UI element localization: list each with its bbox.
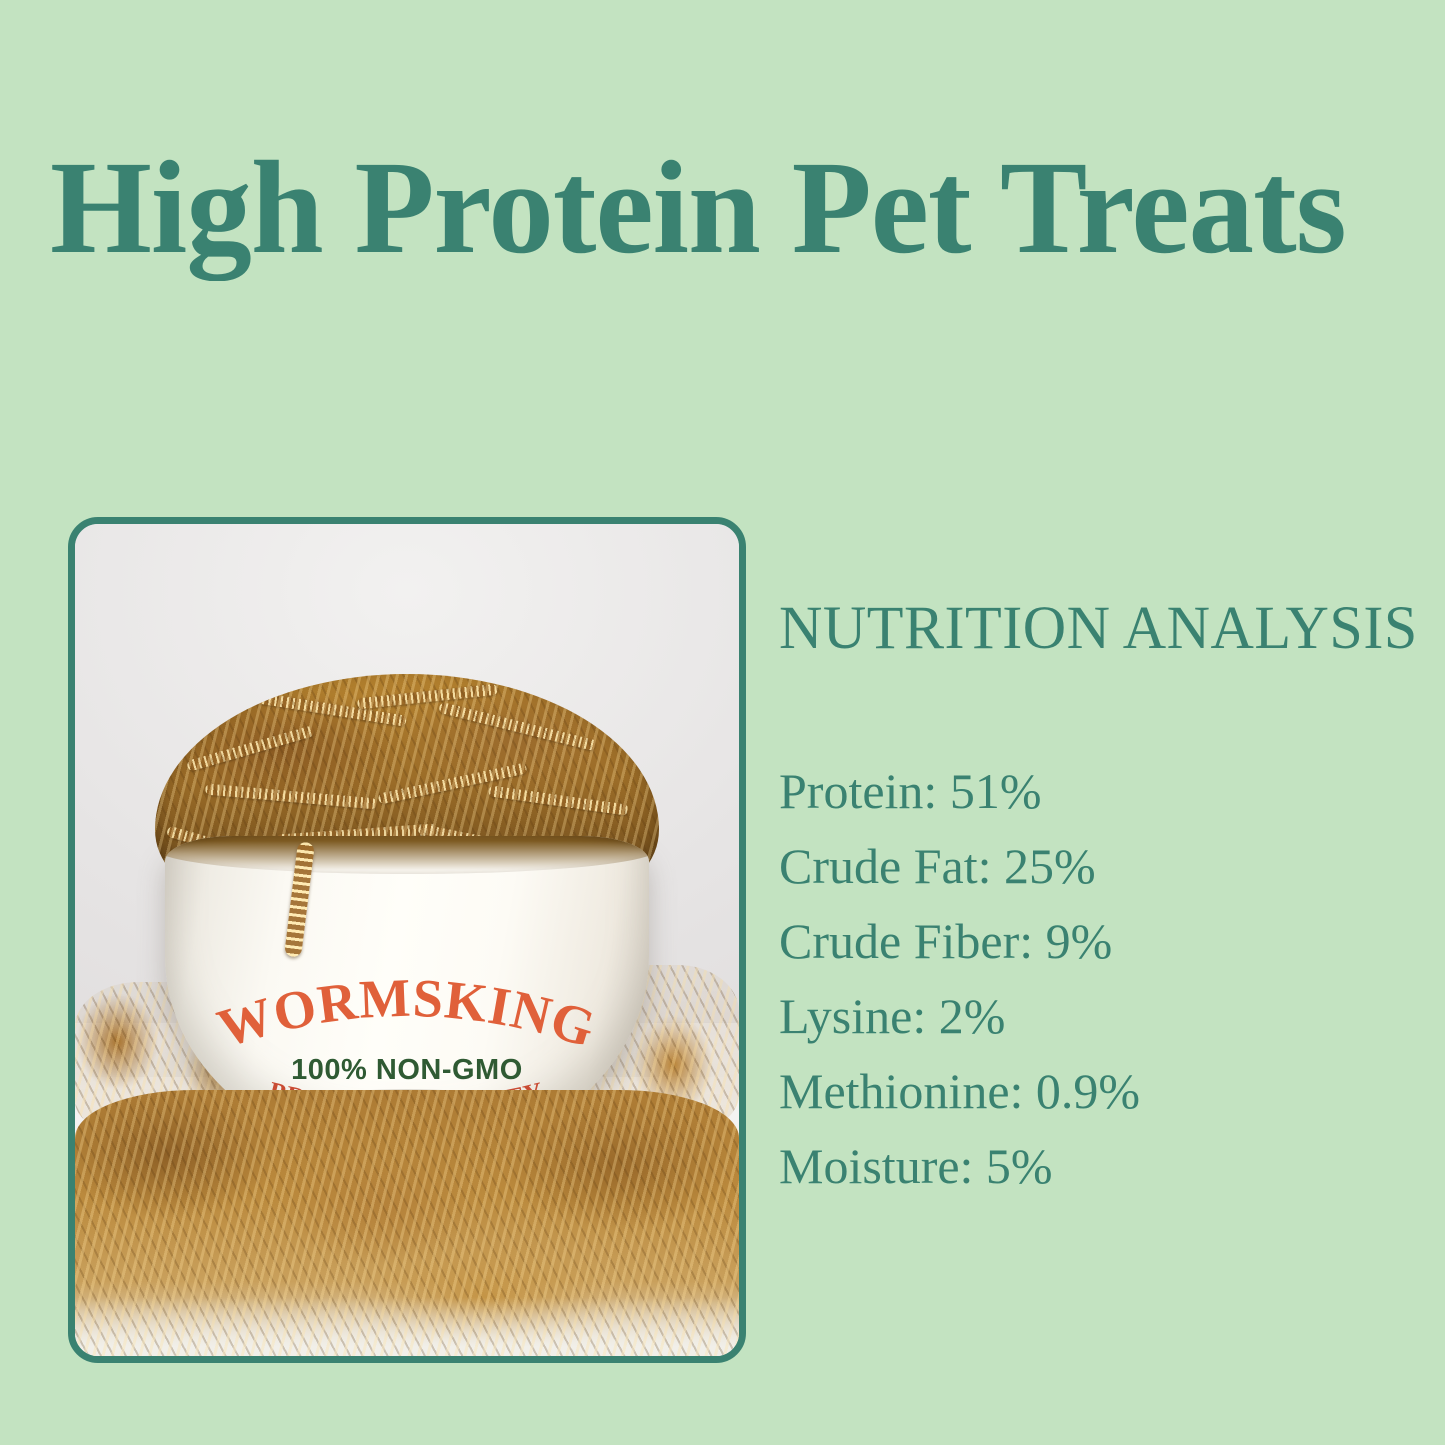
- nutrition-list: Protein: 51% Crude Fat: 25% Crude Fiber:…: [779, 754, 1419, 1204]
- nutrition-item-crude-fat: Crude Fat: 25%: [779, 829, 1419, 904]
- non-gmo-claim: 100% NON-GMO: [203, 1054, 610, 1087]
- bowl-rim: [165, 836, 650, 874]
- nutrition-item-moisture: Moisture: 5%: [779, 1129, 1419, 1204]
- svg-text:WORMSKING: WORMSKING: [211, 968, 603, 1060]
- brand-arc-graphic: WORMSKING: [203, 978, 610, 1062]
- product-marketing-poster: High Protein Pet Treats: [0, 0, 1445, 1445]
- page-title: High Protein Pet Treats: [50, 142, 1380, 272]
- nutrition-item-crude-fiber: Crude Fiber: 9%: [779, 904, 1419, 979]
- nutrition-item-methionine: Methionine: 0.9%: [779, 1054, 1419, 1129]
- mealworm-scatter-bottom: [75, 1090, 739, 1356]
- product-photo: WORMSKING 100% NON-GMO PREMIUM QUALITY: [75, 524, 739, 1356]
- nutrition-item-lysine: Lysine: 2%: [779, 979, 1419, 1054]
- nutrition-item-protein: Protein: 51%: [779, 754, 1419, 829]
- nutrition-heading: NUTRITION ANALYSIS: [779, 598, 1409, 660]
- brand-name-text: WORMSKING: [211, 968, 603, 1060]
- product-photo-frame: WORMSKING 100% NON-GMO PREMIUM QUALITY: [68, 517, 746, 1363]
- nutrition-panel: NUTRITION ANALYSIS Protein: 51% Crude Fa…: [779, 598, 1419, 1204]
